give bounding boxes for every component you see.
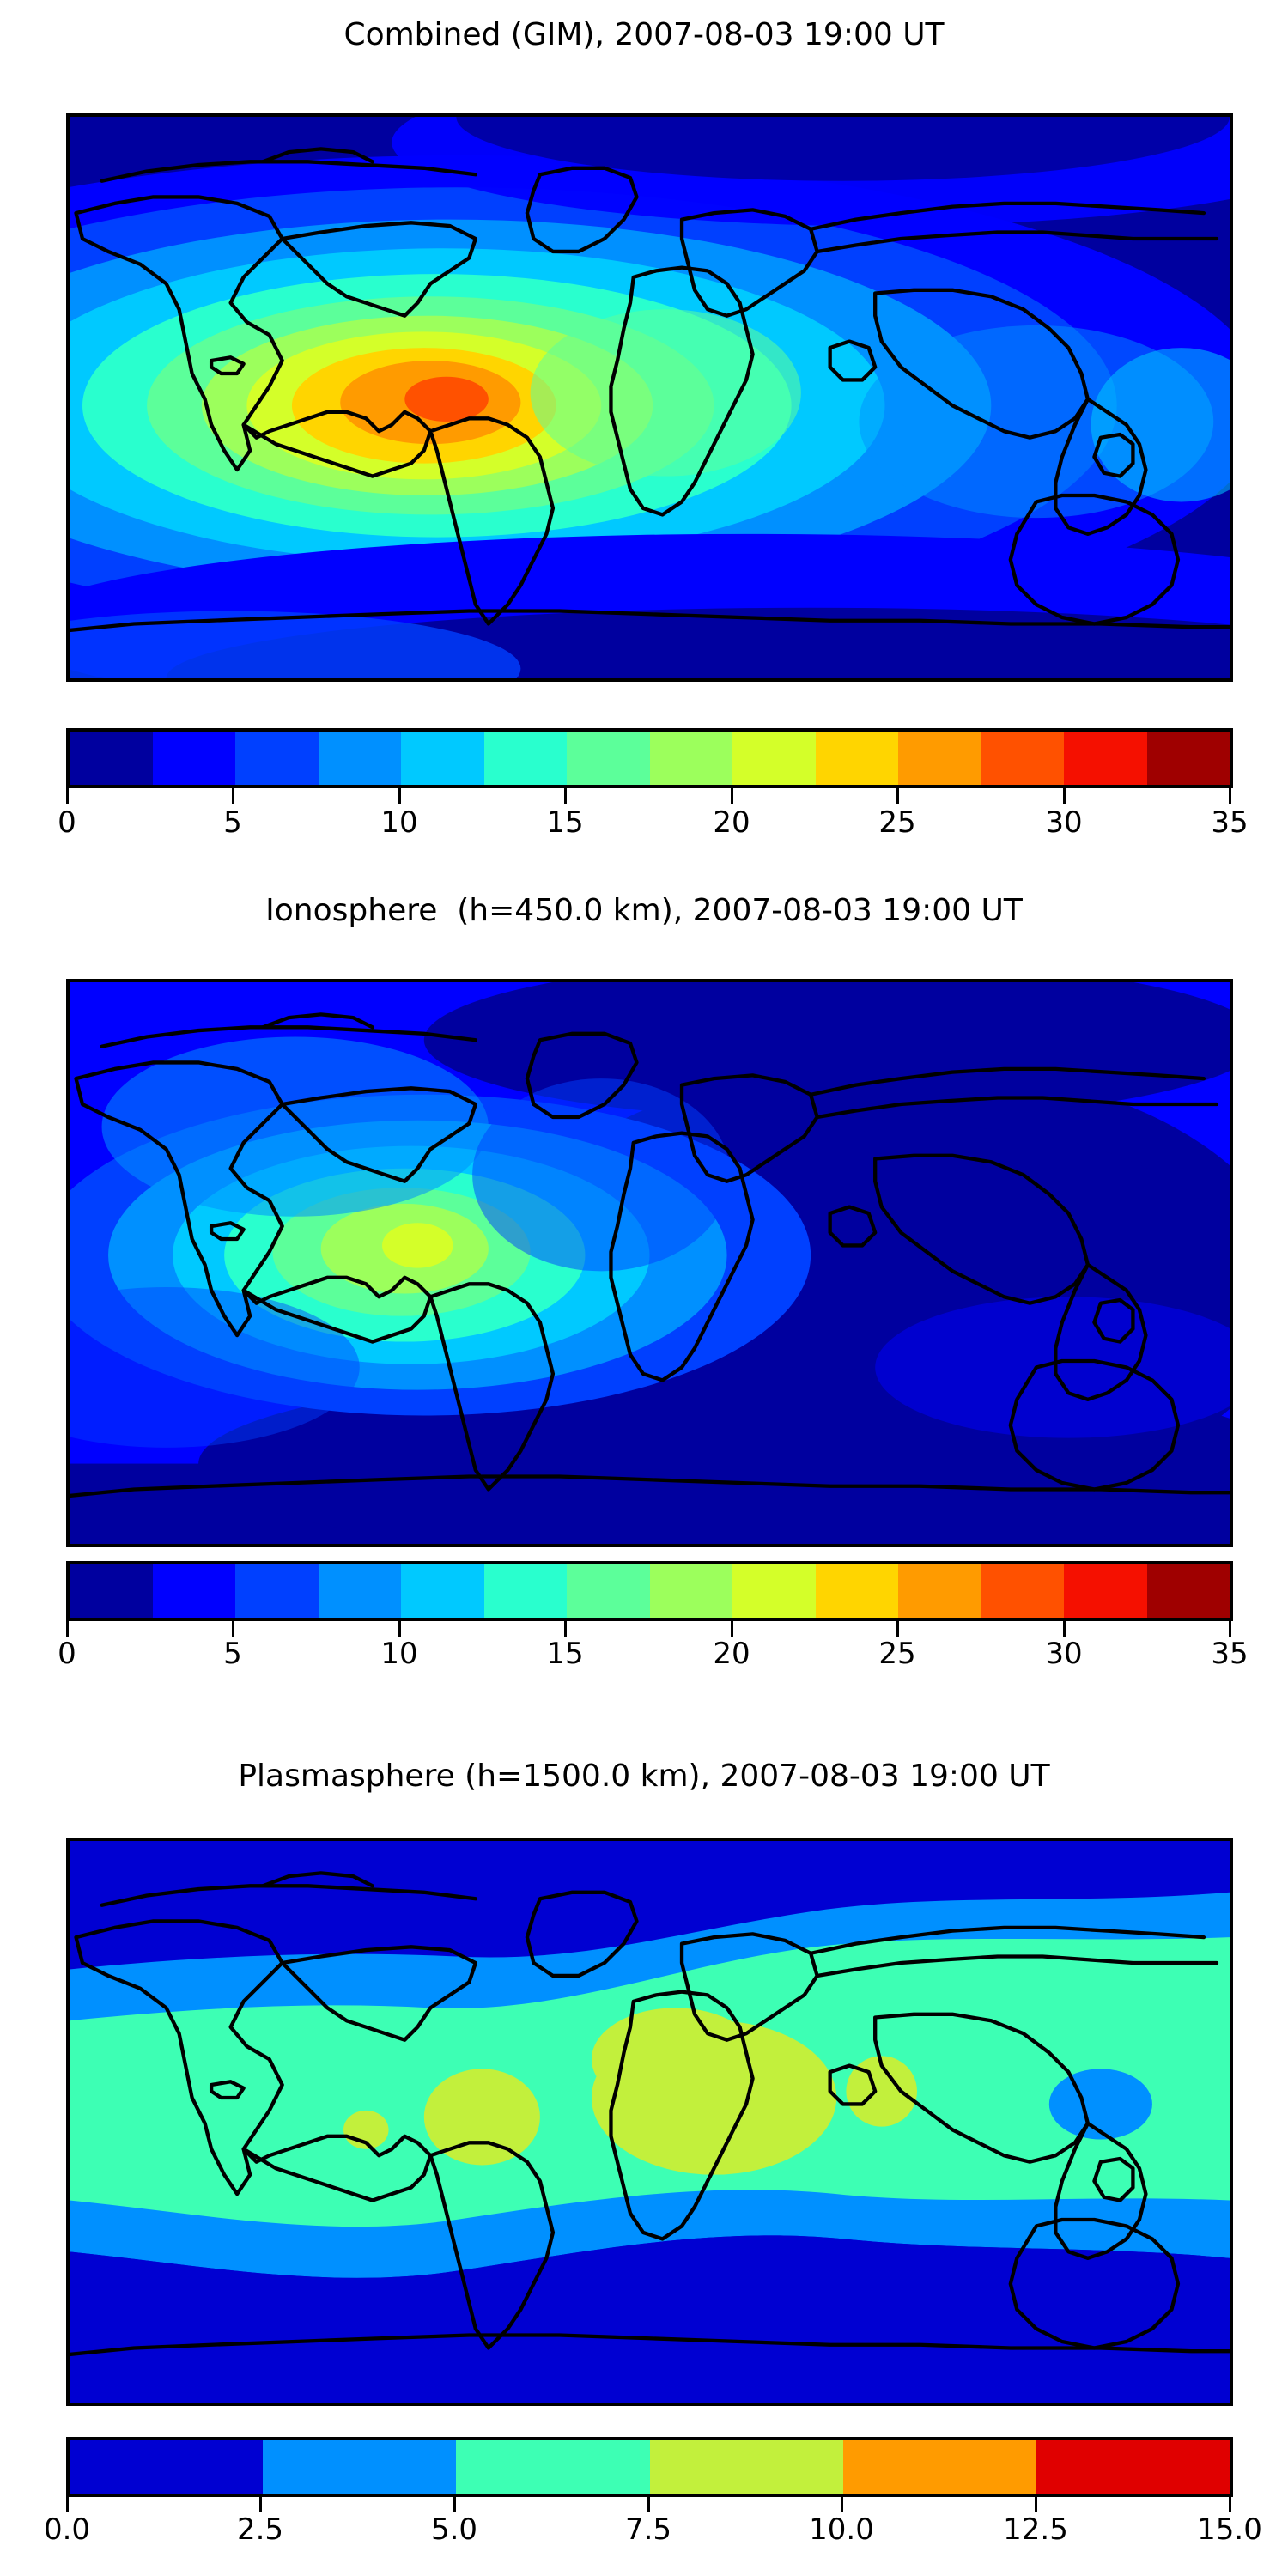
combined-tec-map	[66, 113, 1233, 682]
panel-title-plasmasphere: Plasmasphere (h=1500.0 km), 2007-08-03 1…	[0, 1759, 1288, 1794]
panel-plasmasphere: Plasmasphere (h=1500.0 km), 2007-08-03 1…	[0, 1717, 1288, 2576]
colorbar-labels-plasmasphere: 0.0 2.5 5.0 7.5 10.0 12.5 15.0	[0, 2512, 1288, 2550]
cb-tick-label: 20	[713, 805, 750, 840]
panel-title-ionosphere: Ionosphere (h=450.0 km), 2007-08-03 19:0…	[0, 893, 1288, 928]
colorbar-ionosphere	[66, 1561, 1233, 1621]
cb-tick-label: 25	[878, 1637, 915, 1671]
cb-tick-label: 5	[223, 805, 242, 840]
panel-title-combined: Combined (GIM), 2007-08-03 19:00 UT	[0, 17, 1288, 52]
panel-combined: Combined (GIM), 2007-08-03 19:00 UT	[0, 0, 1288, 859]
colorbar-ticks-plasmasphere	[66, 2497, 1233, 2512]
cb-tick-label: 12.5	[1003, 2512, 1068, 2547]
colorbar-ticks-ionosphere	[66, 1621, 1233, 1637]
cb-tick-label: 20	[713, 1637, 750, 1671]
combined-map-canvas	[70, 117, 1230, 678]
figure-canvas: Combined (GIM), 2007-08-03 19:00 UT	[0, 0, 1288, 2576]
cb-tick-label: 7.5	[625, 2512, 671, 2547]
cb-tick-label: 10.0	[809, 2512, 874, 2547]
cb-tick-label: 35	[1211, 805, 1248, 840]
ionosphere-map-canvas	[70, 982, 1230, 1544]
colorbar-ticks-combined	[66, 788, 1233, 804]
panel-ionosphere: Ionosphere (h=450.0 km), 2007-08-03 19:0…	[0, 859, 1288, 1717]
cb-tick-label: 10	[380, 1637, 417, 1671]
colorbar-combined	[66, 728, 1233, 788]
cb-tick-label: 30	[1045, 1637, 1082, 1671]
cb-tick-label: 5	[223, 1637, 242, 1671]
colorbar-labels-combined: 0 5 10 15 20 25 30 35	[0, 805, 1288, 843]
cb-tick-label: 15	[546, 1637, 583, 1671]
plasmasphere-tec-map	[66, 1838, 1233, 2406]
cb-tick-label: 15.0	[1197, 2512, 1262, 2547]
cb-tick-label: 2.5	[237, 2512, 283, 2547]
cb-tick-label: 30	[1045, 805, 1082, 840]
colorbar-labels-ionosphere: 0 5 10 15 20 25 30 35	[0, 1637, 1288, 1674]
cb-tick-label: 5.0	[431, 2512, 477, 2547]
plasmasphere-map-canvas	[70, 1841, 1230, 2403]
cb-tick-label: 35	[1211, 1637, 1248, 1671]
cb-tick-label: 15	[546, 805, 583, 840]
cb-tick-label: 0.0	[44, 2512, 90, 2547]
colorbar-plasmasphere	[66, 2437, 1233, 2497]
cb-tick-label: 0	[58, 805, 76, 840]
ionosphere-tec-map	[66, 979, 1233, 1547]
cb-tick-label: 10	[380, 805, 417, 840]
cb-tick-label: 0	[58, 1637, 76, 1671]
cb-tick-label: 25	[878, 805, 915, 840]
